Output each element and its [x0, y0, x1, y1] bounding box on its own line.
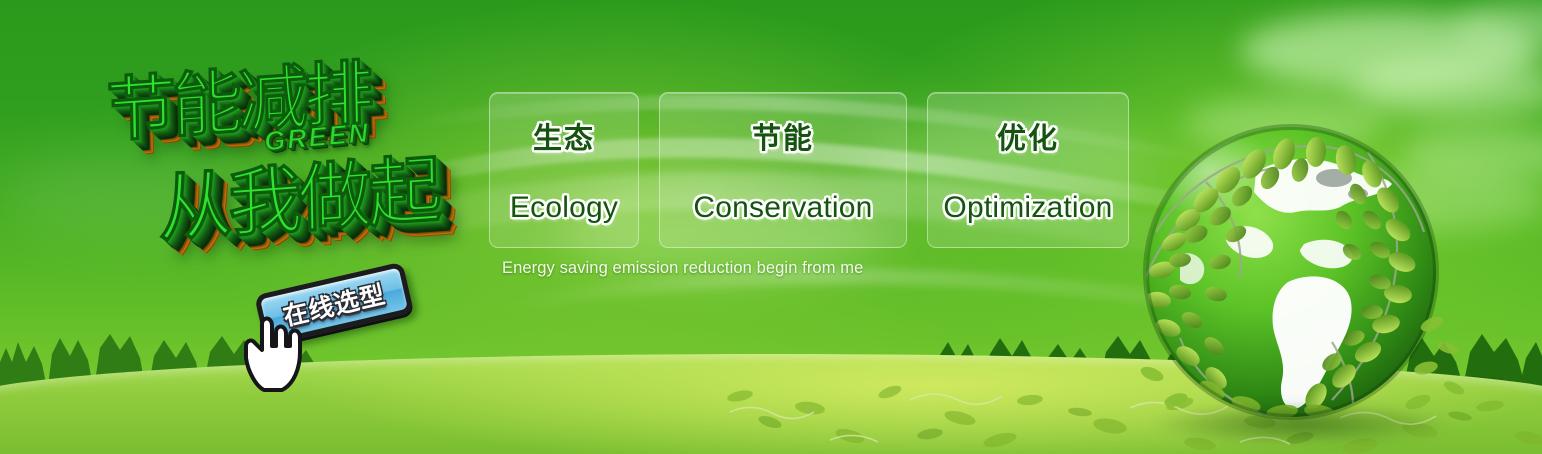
ivy-earth-globe: [1136, 112, 1466, 442]
tagline: Energy saving emission reduction begin f…: [502, 259, 863, 278]
feature-card-optimization[interactable]: 优化 Optimization: [927, 92, 1129, 248]
eco-hero-banner: 节能减排 GREEN 从我做起 在线选型 生态 Ecology 节能 Conse…: [0, 0, 1542, 454]
cloud-icon: [1240, 12, 1540, 90]
card-title-en: Conservation: [693, 191, 872, 225]
card-title-cn: 优化: [997, 115, 1059, 157]
card-title-cn: 节能: [752, 115, 814, 157]
feature-card-ecology[interactable]: 生态 Ecology: [489, 92, 639, 248]
card-title-cn: 生态: [533, 115, 595, 157]
card-title-en: Ecology: [510, 191, 618, 225]
cloud-icon: [1455, 0, 1542, 50]
globe-shadow: [1148, 402, 1454, 446]
hero-logo: 节能减排 GREEN 从我做起: [96, 36, 496, 266]
hand-pointer-icon: [238, 312, 316, 396]
cloud-icon: [1352, 58, 1542, 118]
feature-card-conservation[interactable]: 节能 Conservation: [659, 92, 907, 248]
feature-card-list: 生态 Ecology 节能 Conservation 优化 Optimizati…: [489, 92, 1129, 248]
card-title-en: Optimization: [943, 191, 1112, 225]
globe-illustration: [1136, 112, 1466, 442]
